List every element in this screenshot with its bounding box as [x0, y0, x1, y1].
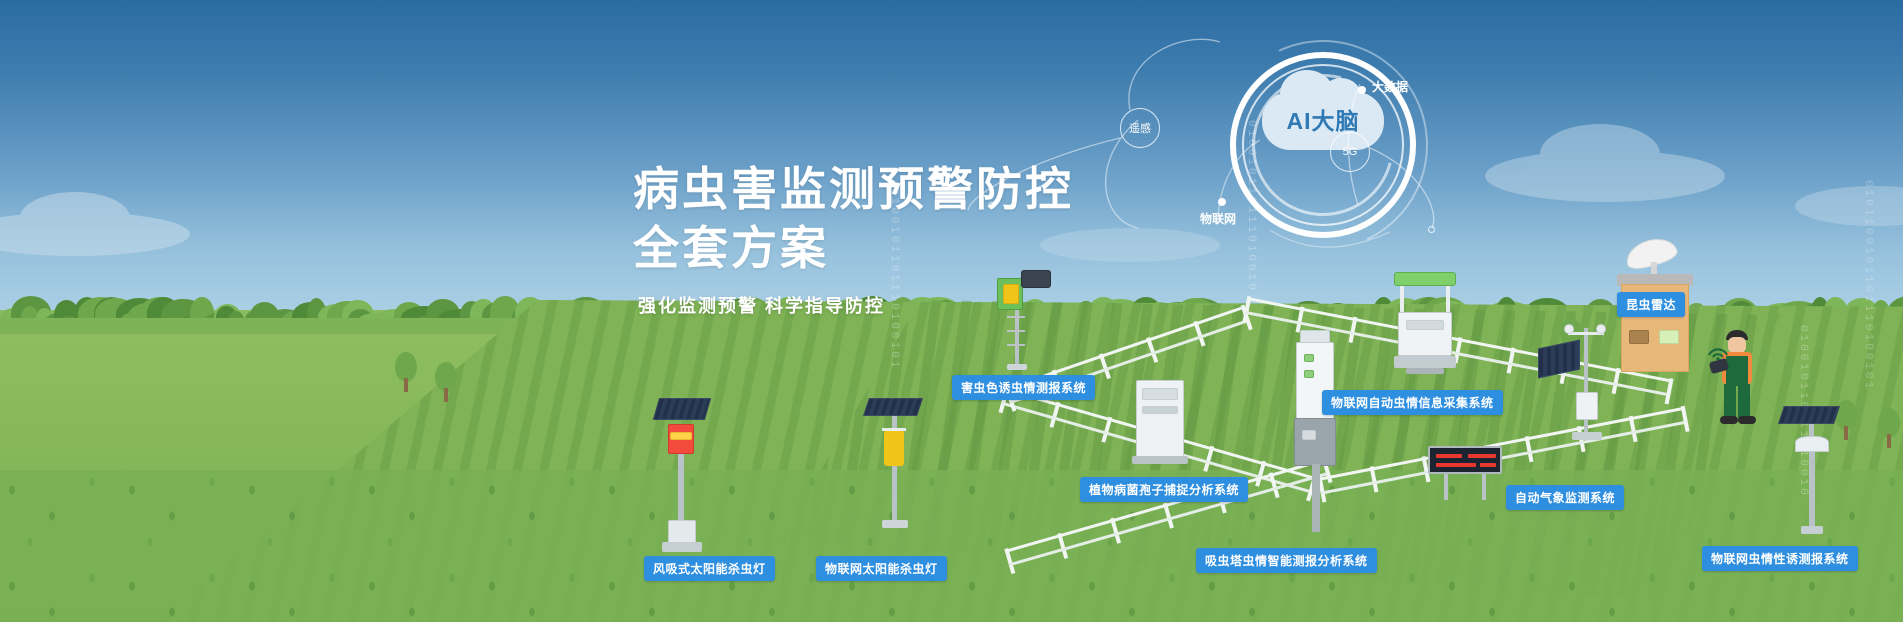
device-iot-auto-pest-collect[interactable]: [1388, 272, 1468, 384]
wifi-icon: [1706, 340, 1730, 360]
title-line-2: 全套方案: [633, 219, 1074, 278]
tree-trunk: [444, 388, 448, 402]
label-spore-capture[interactable]: 植物病菌孢子捕捉分析系统: [1080, 477, 1248, 502]
binary-decor-right: 0101100101101110100101: [1862, 180, 1874, 391]
label-iot-auto-pest-collect[interactable]: 物联网自动虫情信息采集系统: [1322, 390, 1503, 415]
ai-brain-label: AI大脑: [1262, 102, 1384, 136]
device-suction-tower[interactable]: [1290, 330, 1346, 540]
label-iot-pheromone-trap[interactable]: 物联网虫情性诱测报系统: [1702, 546, 1858, 571]
page-title: 病虫害监测预警防控 全套方案: [633, 160, 1074, 278]
label-auto-weather[interactable]: 自动气象监测系统: [1506, 485, 1624, 510]
device-pest-color-trap[interactable]: [985, 268, 1055, 368]
tree-trunk: [404, 378, 408, 392]
title-line-1: 病虫害监测预警防控: [633, 160, 1074, 219]
device-spore-capture[interactable]: [1136, 380, 1192, 472]
device-auto-weather[interactable]: [1538, 328, 1618, 464]
label-iot-solar-lamp[interactable]: 物联网太阳能杀虫灯: [816, 556, 947, 581]
page-subtitle: 强化监测预警 科学指导防控: [638, 292, 885, 318]
label-insect-radar[interactable]: 昆虫雷达: [1617, 292, 1685, 317]
label-pest-color-trap[interactable]: 害虫色诱虫情测报系统: [952, 375, 1095, 400]
field-worker-figure: [1708, 330, 1768, 428]
banner-illustration: 0100101101110100101 010010110111010010 0…: [0, 0, 1903, 622]
label-suction-tower[interactable]: 吸虫塔虫情智能测报分析系统: [1196, 548, 1377, 573]
tree-trunk: [1887, 434, 1891, 448]
device-led-display-board[interactable]: [1428, 446, 1508, 502]
device-iot-solar-lamp[interactable]: [862, 398, 932, 548]
device-iot-pheromone-trap[interactable]: [1775, 406, 1855, 546]
device-wind-suction-lamp[interactable]: [648, 398, 718, 558]
ai-network-graphic: AI大脑 遥感 大数据 5G 物联网: [1130, 30, 1550, 260]
label-wind-suction-lamp[interactable]: 风吸式太阳能杀虫灯: [644, 556, 775, 581]
